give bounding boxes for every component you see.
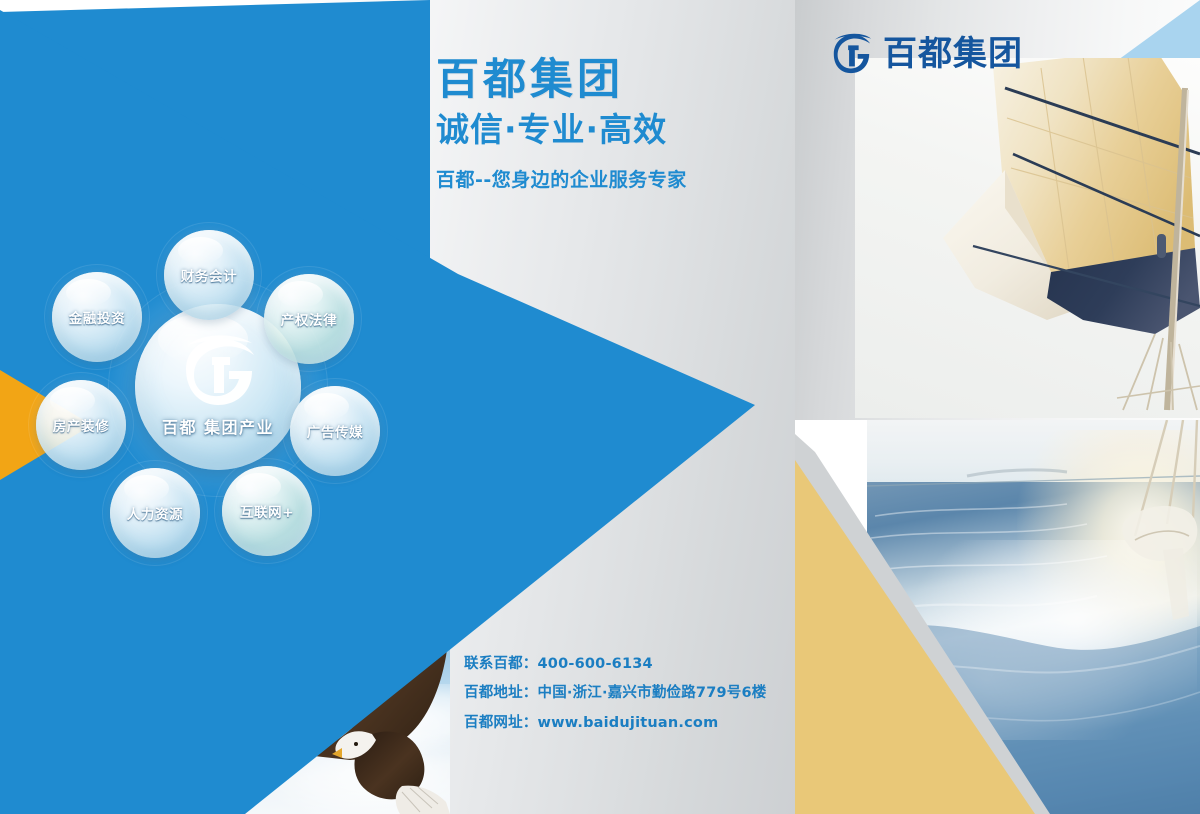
bubble-label-real-estate-decoration: 房产装修 xyxy=(53,415,109,435)
bubble-label-human-resources: 人力资源 xyxy=(127,503,183,523)
bubble-label-internet-plus: 互联网+ xyxy=(240,501,294,521)
contact-address-value: 中国·浙江·嘉兴市勤俭路779号6楼 xyxy=(538,685,767,701)
bubble-internet-plus[interactable]: 互联网+ xyxy=(222,466,312,556)
bubble-real-estate-decoration[interactable]: 房产装修 xyxy=(36,380,126,470)
contact-block: 联系百都：400-600-6134 百都地址：中国·浙江·嘉兴市勤俭路779号6… xyxy=(464,650,766,738)
bubble-label-property-law: 产权法律 xyxy=(281,309,337,329)
contact-website-value[interactable]: www.baidujituan.com xyxy=(538,715,719,731)
headline-subtitle: 诚信·专业·高效 xyxy=(436,108,776,153)
bubble-advertising-media[interactable]: 广告传媒 xyxy=(290,386,380,476)
industry-bubble-diagram: 百都 集团产业 财务会计 产权法律 广告传媒 互联网+ 人力资源 房产装修 xyxy=(28,222,396,552)
sailboat-photo xyxy=(855,58,1200,418)
bubble-property-law[interactable]: 产权法律 xyxy=(264,274,354,364)
logo-d-mark-icon xyxy=(829,32,873,76)
contact-website-label: 百都网址： xyxy=(464,715,538,731)
brand-logo[interactable]: 百都集团 xyxy=(829,32,1023,76)
left-panel: 百都 集团产业 财务会计 产权法律 广告传媒 互联网+ 人力资源 房产装修 xyxy=(0,0,795,814)
sailboat-illustration xyxy=(855,58,1200,418)
bubble-human-resources[interactable]: 人力资源 xyxy=(110,468,200,558)
contact-address-label: 百都地址： xyxy=(464,685,538,701)
contact-website-row: 百都网址：www.baidujituan.com xyxy=(464,709,766,738)
headline-tagline: 百都--您身边的企业服务专家 xyxy=(436,165,776,192)
center-bubble-label: 百都 集团产业 xyxy=(162,414,274,438)
bubble-label-finance-accounting: 财务会计 xyxy=(181,265,237,285)
contact-phone-value: 400-600-6134 xyxy=(538,656,653,672)
contact-address-row: 百都地址：中国·浙江·嘉兴市勤俭路779号6楼 xyxy=(464,679,766,708)
page-title: 百都集团 xyxy=(436,56,776,104)
bubble-label-advertising-media: 广告传媒 xyxy=(307,421,363,441)
poster-canvas: 百都 集团产业 财务会计 产权法律 广告传媒 互联网+ 人力资源 房产装修 xyxy=(0,0,1200,814)
contact-phone-row: 联系百都：400-600-6134 xyxy=(464,650,766,679)
gold-triangle-accent xyxy=(795,420,1095,814)
bubble-label-financial-investment: 金融投资 xyxy=(69,307,125,327)
right-panel: 百都集团 xyxy=(795,0,1200,814)
headline-block: 百都集团 诚信·专业·高效 百都--您身边的企业服务专家 xyxy=(436,56,776,192)
logo-d-mark-white-icon xyxy=(172,335,264,407)
contact-phone-label: 联系百都： xyxy=(464,656,538,672)
bubble-financial-investment[interactable]: 金融投资 xyxy=(52,272,142,362)
brand-logo-text: 百都集团 xyxy=(883,37,1023,71)
bubble-finance-accounting[interactable]: 财务会计 xyxy=(164,230,254,320)
